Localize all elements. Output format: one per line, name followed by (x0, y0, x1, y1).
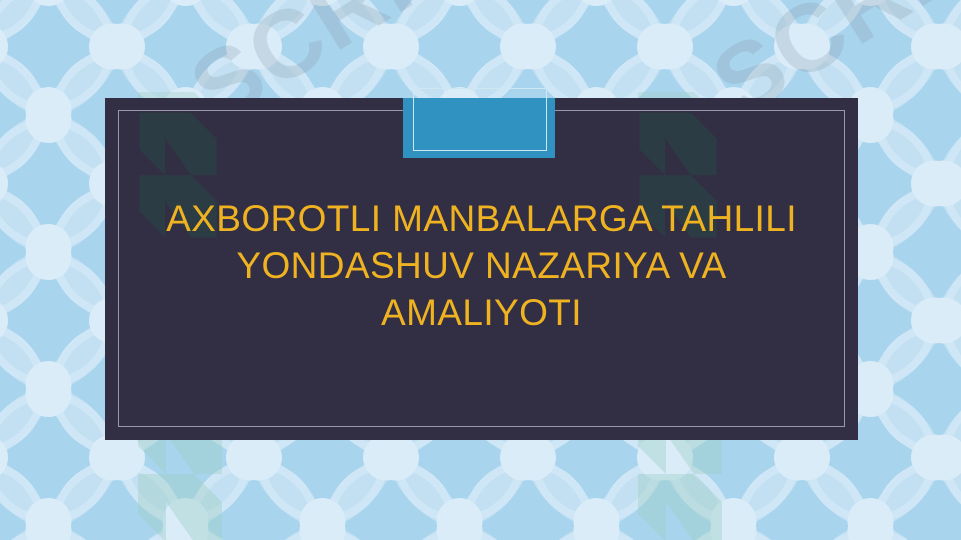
presentation-slide: SCRIB SCRIB (0, 0, 961, 540)
page-title: AXBOROTLI MANBALARGA TAHLILI YONDASHUV N… (118, 195, 845, 336)
accent-tab (403, 98, 555, 158)
accent-tab-inner-border (413, 88, 547, 151)
title-block: AXBOROTLI MANBALARGA TAHLILI YONDASHUV N… (118, 195, 845, 336)
